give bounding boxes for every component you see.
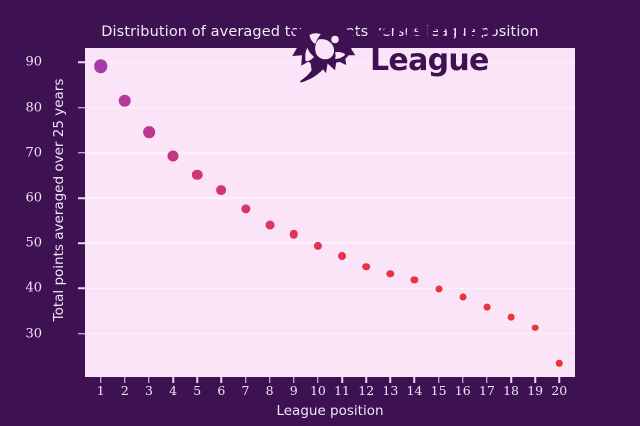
y-tick-mark	[78, 197, 85, 199]
data-point	[119, 95, 132, 108]
data-point	[143, 126, 155, 138]
y-tick-label: 40	[0, 281, 42, 296]
data-point	[192, 170, 202, 180]
gridline	[85, 242, 575, 244]
x-tick-label: 20	[539, 383, 579, 398]
data-point	[532, 324, 539, 331]
gridline	[85, 107, 575, 109]
data-point	[362, 263, 370, 271]
data-point	[168, 151, 179, 162]
premier-league-logo: Premier League	[288, 5, 488, 88]
data-point	[483, 304, 490, 311]
premier-league-lion-crown-icon	[288, 8, 364, 86]
data-point	[556, 360, 563, 367]
data-point	[459, 294, 466, 301]
y-tick-mark	[78, 107, 85, 109]
y-tick-label: 30	[0, 326, 42, 341]
data-point	[216, 185, 226, 195]
logo-line-league: League	[370, 47, 499, 75]
y-tick-label: 80	[0, 100, 42, 115]
plot-area	[85, 48, 575, 377]
premier-league-logo-text: Premier League	[370, 19, 499, 74]
y-tick-mark	[78, 242, 85, 244]
y-tick-mark	[78, 288, 85, 290]
y-axis-label: Total points averaged over 25 years	[51, 35, 67, 365]
gridline	[85, 197, 575, 199]
data-point	[265, 221, 274, 230]
y-tick-mark	[78, 333, 85, 335]
chart-figure: Distribution of averaged total points ve…	[0, 0, 640, 426]
data-point	[241, 204, 250, 213]
data-point	[94, 59, 108, 73]
data-point	[411, 276, 418, 283]
data-point	[387, 270, 394, 277]
gridline	[85, 288, 575, 290]
y-tick-mark	[78, 152, 85, 154]
data-point	[435, 285, 442, 292]
y-tick-label: 60	[0, 191, 42, 206]
x-axis-label: League position	[85, 403, 575, 419]
gridline	[85, 333, 575, 335]
y-tick-label: 90	[0, 55, 42, 70]
y-tick-label: 70	[0, 145, 42, 160]
gridline	[85, 152, 575, 154]
y-tick-label: 50	[0, 236, 42, 251]
y-tick-mark	[78, 62, 85, 64]
data-point	[508, 314, 515, 321]
data-point	[314, 242, 322, 250]
data-point	[338, 252, 346, 260]
data-point	[290, 230, 299, 239]
